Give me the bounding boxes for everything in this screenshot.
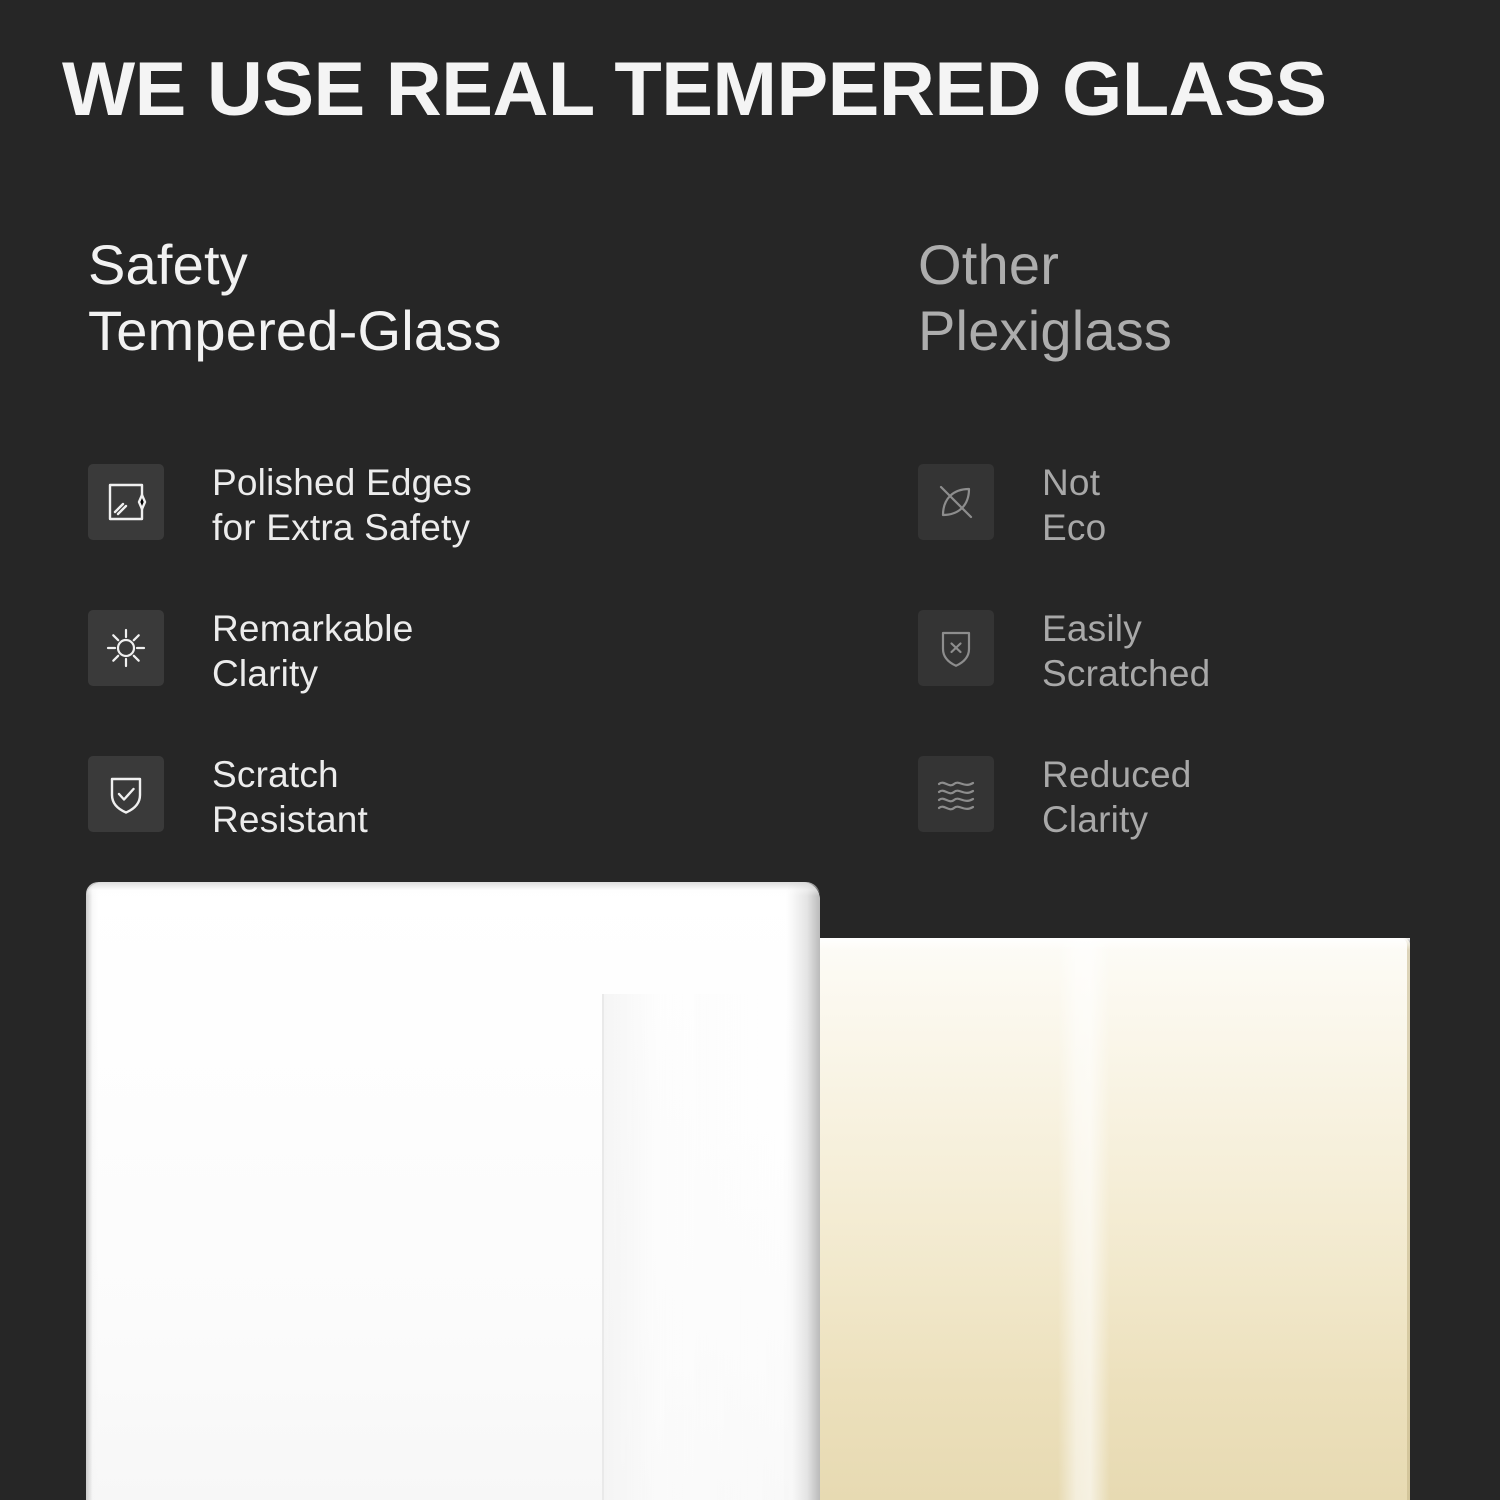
tempered-glass-comparison-infographic: WE USE REAL TEMPERED GLASS Safety Temper… (0, 0, 1500, 1500)
glass-top-edge (86, 882, 820, 896)
feature-label-line: Scratched (1042, 651, 1210, 696)
feature-label-line: Clarity (1042, 797, 1192, 842)
column-title-line: Plexiglass (918, 298, 1478, 364)
comparison-columns: Safety Tempered-Glass Polished Edges (0, 232, 1500, 872)
shield-check-icon (88, 756, 164, 832)
glass-polished-right-edge (786, 882, 820, 1500)
feature-label-line: Easily (1042, 606, 1210, 651)
feature-label-line: Not (1042, 460, 1106, 505)
tempered-glass-panel (86, 882, 820, 1500)
feature-item: Remarkable Clarity (88, 610, 648, 756)
leaf-crossed-out-icon (918, 464, 994, 540)
feature-item: Easily Scratched (918, 610, 1478, 756)
wavy-lines-blur-icon (918, 756, 994, 832)
feature-label-line: Polished Edges (212, 460, 472, 505)
feature-label: Polished Edges for Extra Safety (212, 460, 472, 550)
feature-label-line: Scratch (212, 752, 368, 797)
column-tempered-glass: Safety Tempered-Glass Polished Edges (88, 232, 648, 364)
glass-reflection (602, 994, 784, 1500)
feature-label: Remarkable Clarity (212, 606, 413, 696)
feature-label: Reduced Clarity (1042, 752, 1192, 842)
page-title: WE USE REAL TEMPERED GLASS (62, 44, 1480, 136)
column-title-line: Tempered-Glass (88, 298, 648, 364)
feature-list-tempered-glass: Polished Edges for Extra Safety (88, 464, 648, 902)
feature-label: Easily Scratched (1042, 606, 1210, 696)
feature-label-line: Resistant (212, 797, 368, 842)
feature-list-plexiglass: Not Eco Easily Scratched (918, 464, 1478, 902)
feature-item: Not Eco (918, 464, 1478, 610)
feature-item: Polished Edges for Extra Safety (88, 464, 648, 610)
product-comparison-photo (0, 860, 1500, 1500)
feature-label-line: Eco (1042, 505, 1106, 550)
feature-label: Not Eco (1042, 460, 1106, 550)
polished-glass-pane-icon (88, 464, 164, 540)
column-plexiglass: Other Plexiglass Not Eco (918, 232, 1478, 364)
feature-label-line: Clarity (212, 651, 413, 696)
column-title-plexiglass: Other Plexiglass (918, 232, 1478, 364)
glass-left-edge (86, 882, 98, 1500)
column-title-tempered-glass: Safety Tempered-Glass (88, 232, 648, 364)
feature-label: Scratch Resistant (212, 752, 368, 842)
shield-x-icon (918, 610, 994, 686)
column-title-line: Safety (88, 232, 648, 298)
column-title-line: Other (918, 232, 1478, 298)
feature-label-line: Reduced (1042, 752, 1192, 797)
feature-label-line: Remarkable (212, 606, 413, 651)
plexiglass-panel (810, 938, 1410, 1500)
feature-label-line: for Extra Safety (212, 505, 472, 550)
sun-clarity-icon (88, 610, 164, 686)
